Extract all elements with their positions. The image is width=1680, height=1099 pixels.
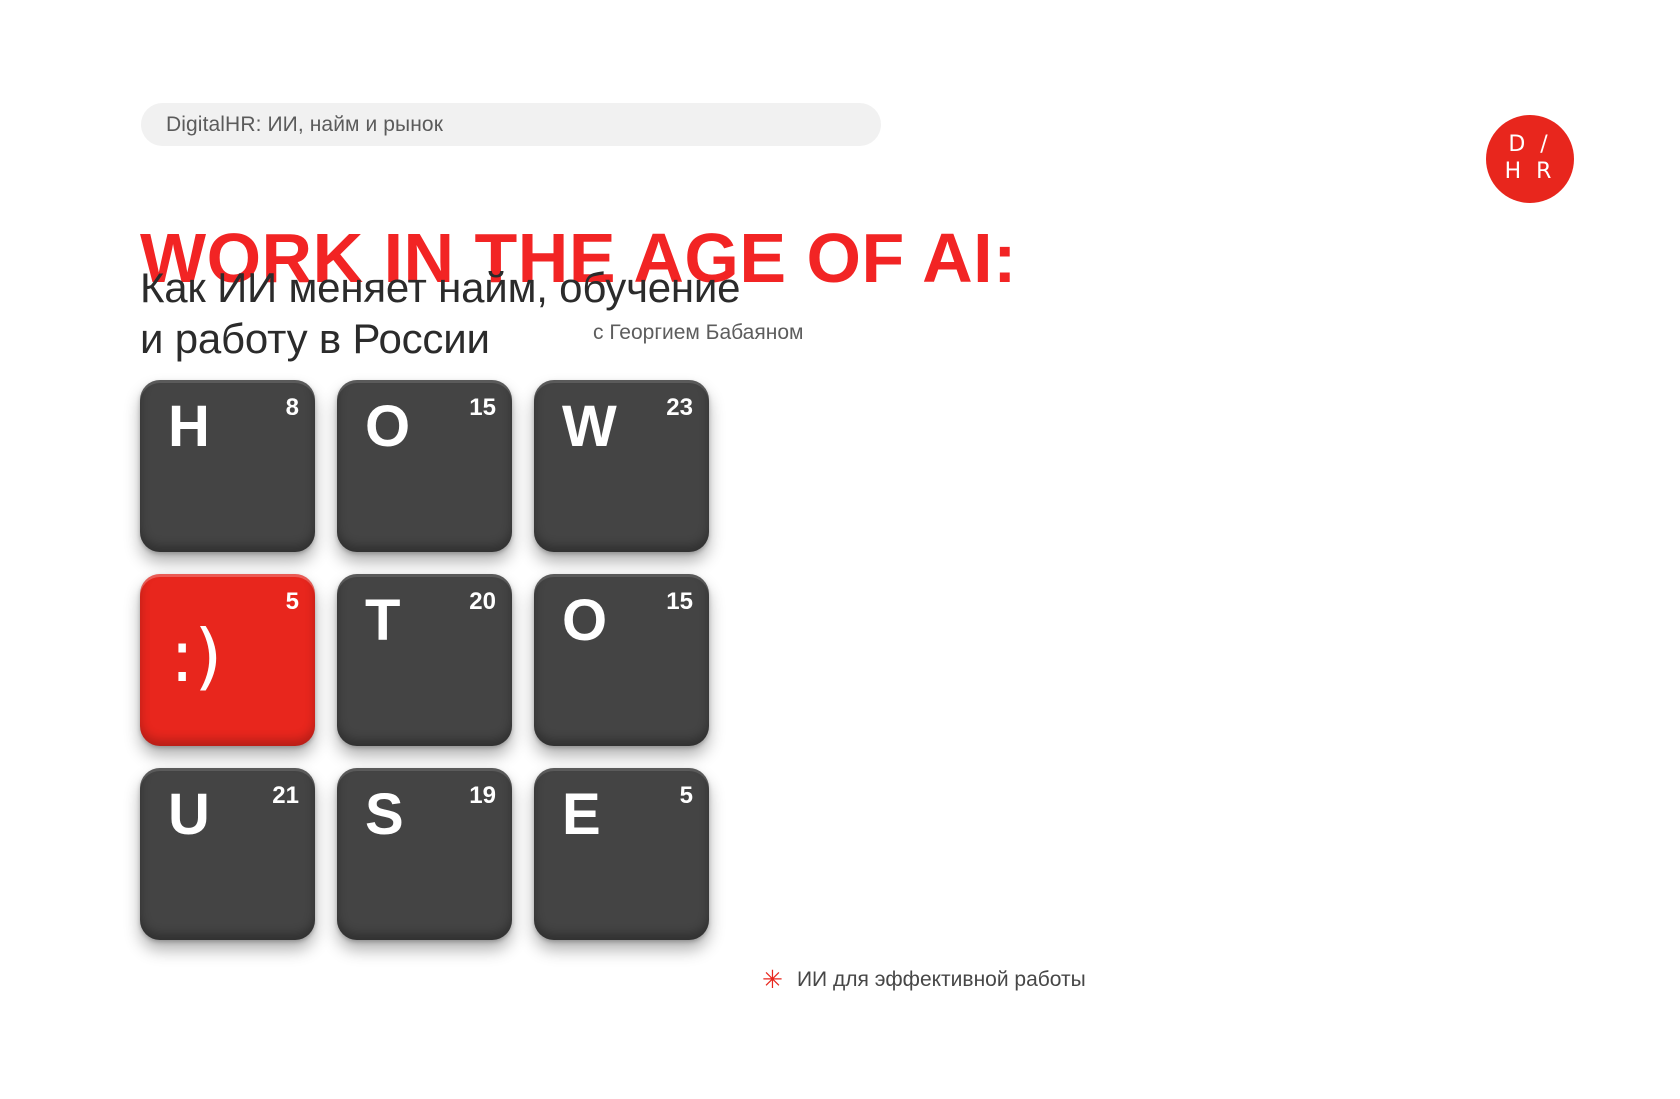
key-number: 20 — [469, 590, 496, 614]
key-number: 5 — [680, 784, 693, 808]
subtitle-block: Как ИИ меняет найм, обучение и работу в … — [140, 262, 1040, 364]
keyboard-row: U 21 S 19 E 5 — [140, 768, 709, 940]
keyboard-row: :) 5 T 20 O 15 — [140, 574, 709, 746]
key-letter: E — [562, 786, 601, 844]
key-number: 15 — [666, 590, 693, 614]
key-letter: S — [365, 786, 404, 844]
key-tile[interactable]: W 23 — [534, 380, 709, 552]
key-tile[interactable]: O 15 — [534, 574, 709, 746]
key-number: 8 — [286, 396, 299, 420]
key-tile[interactable]: S 19 — [337, 768, 512, 940]
footnote-label: ИИ для эффективной работы — [797, 968, 1086, 992]
key-letter: T — [365, 592, 400, 650]
subtitle-text: Как ИИ меняет найм, обучение и работу в … — [140, 262, 1040, 364]
keyboard-grid: H 8 O 15 W 23 :) 5 T 20 O 15 — [140, 380, 709, 962]
key-tile[interactable]: H 8 — [140, 380, 315, 552]
smiley-icon: :) — [170, 620, 222, 692]
key-letter: O — [562, 592, 607, 650]
key-letter: O — [365, 398, 410, 456]
eyebrow-badge: DigitalHR: ИИ, найм и рынок — [141, 103, 881, 146]
eyebrow-badge-label: DigitalHR: ИИ, найм и рынок — [166, 113, 443, 137]
key-tile[interactable]: O 15 — [337, 380, 512, 552]
key-number: 21 — [272, 784, 299, 808]
footnote: ✳ ИИ для эффективной работы — [762, 967, 1086, 992]
key-number: 23 — [666, 396, 693, 420]
key-number: 19 — [469, 784, 496, 808]
key-letter: U — [168, 786, 210, 844]
keyboard-row: H 8 O 15 W 23 — [140, 380, 709, 552]
key-letter: H — [168, 398, 210, 456]
brand-logo: D / H R — [1486, 115, 1574, 203]
brand-logo-line-2: H R — [1505, 160, 1556, 185]
brand-logo-line-1: D / — [1508, 133, 1551, 158]
slide-canvas: DigitalHR: ИИ, найм и рынок D / H R WORK… — [0, 0, 1680, 1099]
key-letter: W — [562, 398, 617, 456]
asterisk-icon: ✳ — [762, 967, 783, 992]
key-tile[interactable]: E 5 — [534, 768, 709, 940]
key-tile[interactable]: U 21 — [140, 768, 315, 940]
key-number: 15 — [469, 396, 496, 420]
key-number: 5 — [286, 590, 299, 614]
byline-text: с Георгием Бабаяном — [593, 321, 803, 345]
key-tile-smiley[interactable]: :) 5 — [140, 574, 315, 746]
key-tile[interactable]: T 20 — [337, 574, 512, 746]
